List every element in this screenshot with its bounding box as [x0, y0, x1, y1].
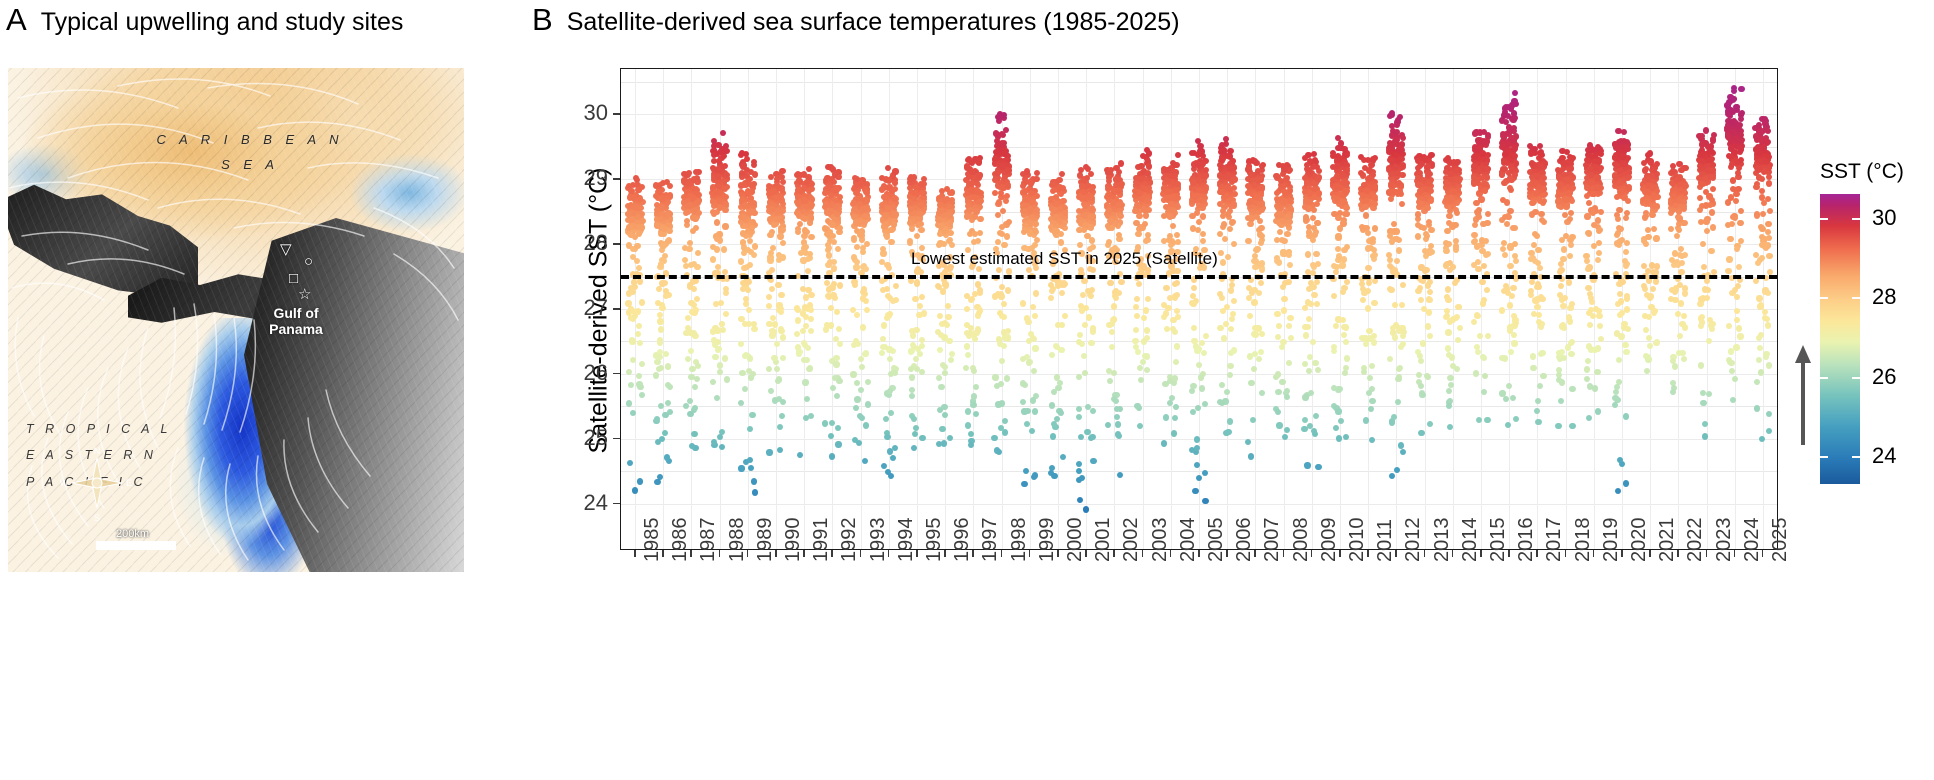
scatter-point — [1418, 297, 1424, 303]
scatter-point — [1029, 428, 1035, 434]
scatter-point — [827, 259, 833, 265]
scatter-point — [777, 447, 783, 453]
scatter-point — [738, 465, 744, 471]
scatter-point — [1275, 409, 1281, 415]
scatter-point — [752, 171, 758, 177]
scatter-point — [1400, 449, 1406, 455]
scatter-point — [1110, 200, 1116, 206]
scatter-point — [770, 315, 776, 321]
scatter-point — [1141, 315, 1147, 321]
scatter-point — [862, 213, 868, 219]
scatter-point — [886, 346, 892, 352]
scatter-point — [1503, 150, 1509, 156]
scatter-point — [1343, 205, 1349, 211]
scatter-point — [658, 326, 664, 332]
scatter-point — [1020, 300, 1026, 306]
scatter-point — [1084, 429, 1090, 435]
scatter-point — [1002, 418, 1008, 424]
scatter-point — [1335, 316, 1341, 322]
scatter-point — [1278, 178, 1284, 184]
scatter-point — [637, 478, 643, 484]
scatter-point — [1340, 220, 1346, 226]
scatter-point — [766, 449, 772, 455]
y-axis-tick-label: 28 — [556, 230, 608, 256]
scatter-point — [884, 434, 890, 440]
panel-a-title: Typical upwelling and study sites — [41, 10, 404, 35]
scatter-point — [1259, 260, 1265, 266]
site-marker-square[interactable]: □ — [289, 271, 298, 286]
scatter-point — [1274, 311, 1280, 317]
scatter-point — [1172, 210, 1178, 216]
scatter-point — [1111, 303, 1117, 309]
scatter-point — [625, 300, 631, 306]
scatter-point — [1137, 176, 1143, 182]
scatter-point — [1365, 230, 1371, 236]
scatter-point — [911, 344, 917, 350]
scatter-point — [880, 336, 886, 342]
scatter-point — [1282, 189, 1288, 195]
scatter-point — [1049, 402, 1055, 408]
scatter-point — [750, 371, 756, 377]
scatter-point — [1257, 201, 1263, 207]
scatter-point — [637, 340, 643, 346]
scatter-point — [1003, 198, 1009, 204]
scatter-point — [1280, 250, 1286, 256]
scatter-point — [947, 435, 953, 441]
scatter-point — [1510, 395, 1516, 401]
scatter-point — [835, 425, 841, 431]
scatter-point — [998, 293, 1004, 299]
scatter-point — [881, 463, 887, 469]
scatter-point — [1302, 324, 1308, 330]
grid-line-vertical — [1453, 69, 1454, 549]
scatter-point — [1472, 130, 1478, 136]
scatter-point — [1060, 454, 1066, 460]
scatter-point — [716, 198, 722, 204]
scatter-point — [629, 216, 635, 222]
scatter-point — [913, 356, 919, 362]
scatter-point — [1509, 102, 1515, 108]
scatter-point — [1116, 290, 1122, 296]
scatter-point — [1090, 458, 1096, 464]
scatter-point — [1175, 314, 1181, 320]
scatter-point — [1032, 227, 1038, 233]
scatter-point — [1446, 213, 1452, 219]
scatter-point — [822, 420, 828, 426]
scatter-point — [1443, 262, 1449, 268]
scatter-point — [885, 205, 891, 211]
scatter-point — [891, 221, 897, 227]
scatter-point — [1481, 263, 1487, 269]
scatter-point — [1059, 171, 1065, 177]
scatter-point — [968, 325, 974, 331]
scatter-point — [692, 405, 698, 411]
scatter-point — [1231, 298, 1237, 304]
scatter-point — [1144, 198, 1150, 204]
scatter-point — [1302, 394, 1308, 400]
scatter-point — [1537, 383, 1543, 389]
scatter-point — [780, 334, 786, 340]
scatter-point — [937, 347, 943, 353]
scatter-point — [1343, 434, 1349, 440]
scatter-point — [749, 225, 755, 231]
scatter-point — [1428, 227, 1434, 233]
scatter-point — [1085, 288, 1091, 294]
scatter-point — [1427, 289, 1433, 295]
scatter-point — [1255, 168, 1261, 174]
scatter-point — [1420, 340, 1426, 346]
scatter-point — [1334, 163, 1340, 169]
scatter-point — [1453, 243, 1459, 249]
grid-line-vertical — [917, 69, 918, 549]
scatter-point — [1196, 362, 1202, 368]
panel-a-header: A Typical upwelling and study sites — [6, 4, 403, 35]
site-marker-star[interactable]: ☆ — [298, 287, 311, 302]
scatter-point — [1169, 238, 1175, 244]
scatter-point — [999, 358, 1005, 364]
scatter-point — [685, 356, 691, 362]
scatter-point — [1344, 244, 1350, 250]
scatter-point — [1477, 333, 1483, 339]
scatter-point — [1512, 172, 1518, 178]
scatter-point — [1135, 349, 1141, 355]
scatter-point — [910, 332, 916, 338]
scatter-point — [1421, 225, 1427, 231]
scatter-point — [1061, 281, 1067, 287]
scatter-point — [826, 252, 832, 258]
scatter-point — [994, 383, 1000, 389]
scatter-point — [780, 240, 786, 246]
scatter-point — [780, 254, 786, 260]
scatter-point — [864, 241, 870, 247]
scatter-point — [1372, 183, 1378, 189]
scatter-point — [1251, 182, 1257, 188]
scatter-point — [657, 312, 663, 318]
scatter-point — [801, 258, 807, 264]
scatter-point — [766, 321, 772, 327]
scatter-point — [632, 234, 638, 240]
scatter-point — [778, 292, 784, 298]
scatter-point — [1175, 181, 1181, 187]
scatter-point — [1454, 159, 1460, 165]
scatter-point — [1086, 314, 1092, 320]
scatter-point — [1471, 232, 1477, 238]
scatter-point — [936, 375, 942, 381]
scatter-point — [1106, 322, 1112, 328]
scatter-point — [1031, 336, 1037, 342]
scatter-point — [942, 412, 948, 418]
scatter-point — [635, 331, 641, 337]
scatter-point — [1389, 158, 1395, 164]
scatter-point — [767, 216, 773, 222]
y-axis-tick-label: 26 — [556, 360, 608, 386]
scatter-point — [1175, 152, 1181, 158]
scatter-point — [1534, 408, 1540, 414]
scatter-point — [1145, 170, 1151, 176]
scatter-point — [918, 202, 924, 208]
scatter-point — [1143, 212, 1149, 218]
scatter-point — [1398, 442, 1404, 448]
scatter-point — [1135, 231, 1141, 237]
scatter-point — [1256, 356, 1262, 362]
scatter-point — [739, 170, 745, 176]
scatter-point — [1197, 143, 1203, 149]
scatter-point — [1455, 337, 1461, 343]
scatter-point — [1475, 266, 1481, 272]
scatter-point — [1507, 185, 1513, 191]
scatter-point — [1113, 398, 1119, 404]
scatter-point — [1082, 203, 1088, 209]
scatter-point — [1200, 231, 1206, 237]
scatter-point — [1361, 290, 1367, 296]
scatter-point — [1133, 220, 1139, 226]
scatter-point — [1480, 221, 1486, 227]
scatter-point — [715, 173, 721, 179]
scatter-point — [1505, 141, 1511, 147]
scatter-point — [1443, 248, 1449, 254]
scatter-point — [771, 222, 777, 228]
scatter-point — [991, 435, 997, 441]
sst-scatter-plot[interactable]: Lowest estimated SST in 2025 (Satellite) — [620, 68, 1778, 550]
scatter-point — [1058, 239, 1064, 245]
scatter-point — [1023, 468, 1029, 474]
scatter-point — [1224, 304, 1230, 310]
scatter-point — [892, 168, 898, 174]
scatter-point — [1399, 302, 1405, 308]
scatter-point — [1248, 453, 1254, 459]
scatter-point — [1161, 238, 1167, 244]
scatter-point — [1416, 372, 1422, 378]
scatter-point — [1426, 181, 1432, 187]
scatter-point — [918, 211, 924, 217]
scatter-point — [1281, 307, 1287, 313]
scatter-point — [938, 207, 944, 213]
scatter-point — [965, 352, 971, 358]
scatter-point — [1196, 475, 1202, 481]
scatter-point — [1172, 329, 1178, 335]
scatter-point — [639, 184, 645, 190]
scatter-point — [1287, 315, 1293, 321]
scatter-point — [626, 369, 632, 375]
upwelling-map[interactable]: C A R I B B E A N S E A T R O P I C A L … — [8, 68, 464, 572]
scatter-point — [1219, 382, 1225, 388]
scatter-point — [742, 386, 748, 392]
scatter-point — [1114, 414, 1120, 420]
panel-a-letter: A — [6, 4, 27, 35]
scatter-point — [1105, 422, 1111, 428]
scatter-point — [1229, 316, 1235, 322]
scatter-point — [1540, 373, 1546, 379]
scatter-point — [806, 166, 812, 172]
scatter-point — [1394, 129, 1400, 135]
scatter-point — [1473, 370, 1479, 376]
scatter-point — [1502, 355, 1508, 361]
scatter-point — [1368, 406, 1374, 412]
scatter-point — [883, 416, 889, 422]
scatter-point — [1396, 247, 1402, 253]
site-marker-circle[interactable]: ○ — [304, 254, 313, 269]
scatter-point — [1331, 385, 1337, 391]
scatter-point — [772, 397, 778, 403]
grid-line-vertical — [1255, 69, 1256, 549]
site-marker-triangle[interactable]: ▽ — [280, 242, 292, 257]
scatter-point — [1365, 265, 1371, 271]
scatter-point — [659, 436, 665, 442]
scatter-point — [1344, 355, 1350, 361]
scatter-point — [1049, 352, 1055, 358]
scatter-point — [1371, 339, 1377, 345]
scatter-point — [695, 250, 701, 256]
scatter-point — [1077, 332, 1083, 338]
scatter-point — [1051, 389, 1057, 395]
scatter-point — [965, 422, 971, 428]
scatter-point — [852, 282, 858, 288]
scatter-point — [751, 252, 757, 258]
scatter-point — [939, 426, 945, 432]
scatter-point — [1048, 282, 1054, 288]
scatter-point — [1481, 389, 1487, 395]
scatter-point — [1026, 359, 1032, 365]
scatter-point — [637, 384, 643, 390]
scatter-point — [1368, 162, 1374, 168]
scatter-point — [1372, 225, 1378, 231]
scatter-point — [1032, 345, 1038, 351]
scatter-point — [1502, 214, 1508, 220]
scatter-point — [1369, 398, 1375, 404]
scatter-point — [1337, 156, 1343, 162]
scatter-point — [1228, 287, 1234, 293]
scatter-point — [1022, 227, 1028, 233]
scatter-point — [1001, 314, 1007, 320]
scatter-point — [911, 445, 917, 451]
scatter-point — [1194, 348, 1200, 354]
scatter-point — [1286, 323, 1292, 329]
scatter-point — [1457, 325, 1463, 331]
scatter-point — [1528, 288, 1534, 294]
scatter-point — [1059, 290, 1065, 296]
scatter-point — [779, 413, 785, 419]
scatter-point — [659, 305, 665, 311]
scatter-point — [1508, 349, 1514, 355]
scatter-point — [964, 343, 970, 349]
scatter-point — [1170, 223, 1176, 229]
scatter-point — [1512, 90, 1518, 96]
scatter-point — [1077, 242, 1083, 248]
scatter-point — [1137, 365, 1143, 371]
caribbean-sea-label: C A R I B B E A N S E A — [140, 128, 360, 177]
scatter-point — [1446, 403, 1452, 409]
scatter-point — [908, 366, 914, 372]
scatter-point — [1307, 191, 1313, 197]
scatter-point — [685, 315, 691, 321]
scatter-point — [654, 416, 660, 422]
scatter-point — [969, 169, 975, 175]
scatter-point — [1203, 186, 1209, 192]
scatter-point — [1253, 247, 1259, 253]
scatter-point — [684, 218, 690, 224]
scatter-point — [1449, 176, 1455, 182]
scatter-point — [1363, 417, 1369, 423]
scatter-point — [1481, 180, 1487, 186]
scatter-point — [773, 216, 779, 222]
scatter-point — [835, 246, 841, 252]
scatter-point — [1532, 297, 1538, 303]
scatter-point — [886, 184, 892, 190]
scatter-point — [712, 354, 718, 360]
scatter-point — [854, 380, 860, 386]
scatter-point — [745, 287, 751, 293]
scatter-point — [1021, 408, 1027, 414]
scatter-point — [1504, 199, 1510, 205]
scatter-point — [1500, 131, 1506, 137]
scatter-point — [1001, 112, 1007, 118]
scatter-point — [1145, 296, 1151, 302]
scatter-point — [1399, 201, 1405, 207]
scatter-point — [937, 313, 943, 319]
scatter-point — [907, 238, 913, 244]
scatter-point — [1312, 431, 1318, 437]
scatter-point — [1200, 213, 1206, 219]
scatter-point — [1360, 297, 1366, 303]
scatter-point — [942, 370, 948, 376]
scatter-point — [974, 188, 980, 194]
scatter-point — [722, 223, 728, 229]
scatter-point — [1446, 241, 1452, 247]
scatter-point — [828, 305, 834, 311]
scatter-point — [885, 165, 891, 171]
scatter-point — [1513, 416, 1519, 422]
scatter-point — [780, 227, 786, 233]
scatter-point — [770, 245, 776, 251]
scatter-point — [829, 453, 835, 459]
scatter-point — [1161, 440, 1167, 446]
scatter-point — [1284, 394, 1290, 400]
scatter-point — [1281, 296, 1287, 302]
scatter-point — [1511, 313, 1517, 319]
scatter-point — [940, 288, 946, 294]
scatter-point — [1163, 167, 1169, 173]
scatter-point — [1485, 333, 1491, 339]
scatter-point — [1084, 233, 1090, 239]
scatter-point — [1447, 171, 1453, 177]
scatter-point — [1284, 231, 1290, 237]
scatter-point — [1419, 161, 1425, 167]
scatter-point — [881, 322, 887, 328]
scatter-point — [1248, 380, 1254, 386]
scatter-point — [766, 366, 772, 372]
scatter-point — [657, 318, 663, 324]
scatter-point — [1051, 473, 1057, 479]
scatter-point — [1507, 263, 1513, 269]
scatter-point — [795, 229, 801, 235]
scatter-point — [862, 206, 868, 212]
scatter-point — [1227, 372, 1233, 378]
scatter-point — [909, 393, 915, 399]
scatter-point — [1302, 361, 1308, 367]
scatter-point — [1398, 344, 1404, 350]
scatter-point — [681, 171, 687, 177]
scatter-point — [1106, 209, 1112, 215]
scatter-point — [1089, 205, 1095, 211]
scatter-point — [1029, 199, 1035, 205]
scatter-point — [1479, 279, 1485, 285]
scatter-point — [1137, 191, 1143, 197]
scatter-point — [1062, 313, 1068, 319]
scatter-point — [1280, 339, 1286, 345]
scatter-point — [808, 307, 814, 313]
scatter-point — [723, 290, 729, 296]
scatter-point — [1472, 222, 1478, 228]
